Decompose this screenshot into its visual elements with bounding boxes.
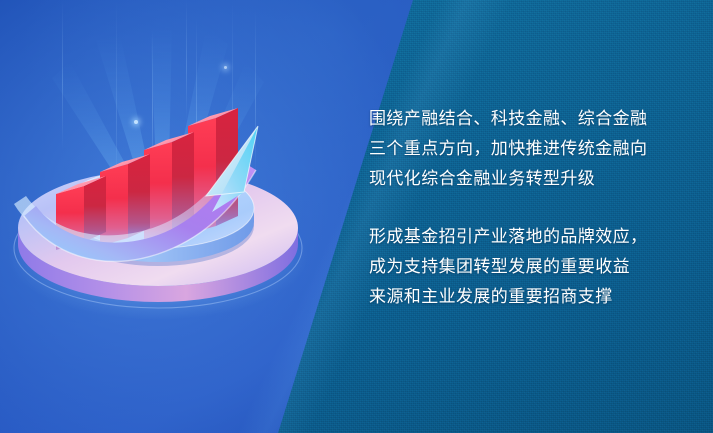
paragraph-one-line-1: 围绕产融结合、科技金融、综合金融	[369, 104, 679, 134]
paragraph-two-line-2: 成为支持集团转型发展的重要收益	[369, 252, 679, 282]
paragraph-two-line-3: 来源和主业发展的重要招商支撑	[369, 282, 679, 312]
paragraph-two: 形成基金招引产业落地的品牌效应， 成为支持集团转型发展的重要收益 来源和主业发展…	[369, 222, 679, 312]
banner-root: 围绕产融结合、科技金融、综合金融 三个重点方向，加快推进传统金融向 现代化综合金…	[0, 0, 713, 433]
copy-block: 围绕产融结合、科技金融、综合金融 三个重点方向，加快推进传统金融向 现代化综合金…	[369, 104, 679, 312]
growth-chart-illustration	[6, 96, 316, 336]
paragraph-two-line-1: 形成基金招引产业落地的品牌效应，	[369, 222, 679, 252]
paragraph-one-line-2: 三个重点方向，加快推进传统金融向	[369, 134, 679, 164]
paragraph-one-line-3: 现代化综合金融业务转型升级	[369, 164, 679, 194]
paragraph-one: 围绕产融结合、科技金融、综合金融 三个重点方向，加快推进传统金融向 现代化综合金…	[369, 104, 679, 194]
